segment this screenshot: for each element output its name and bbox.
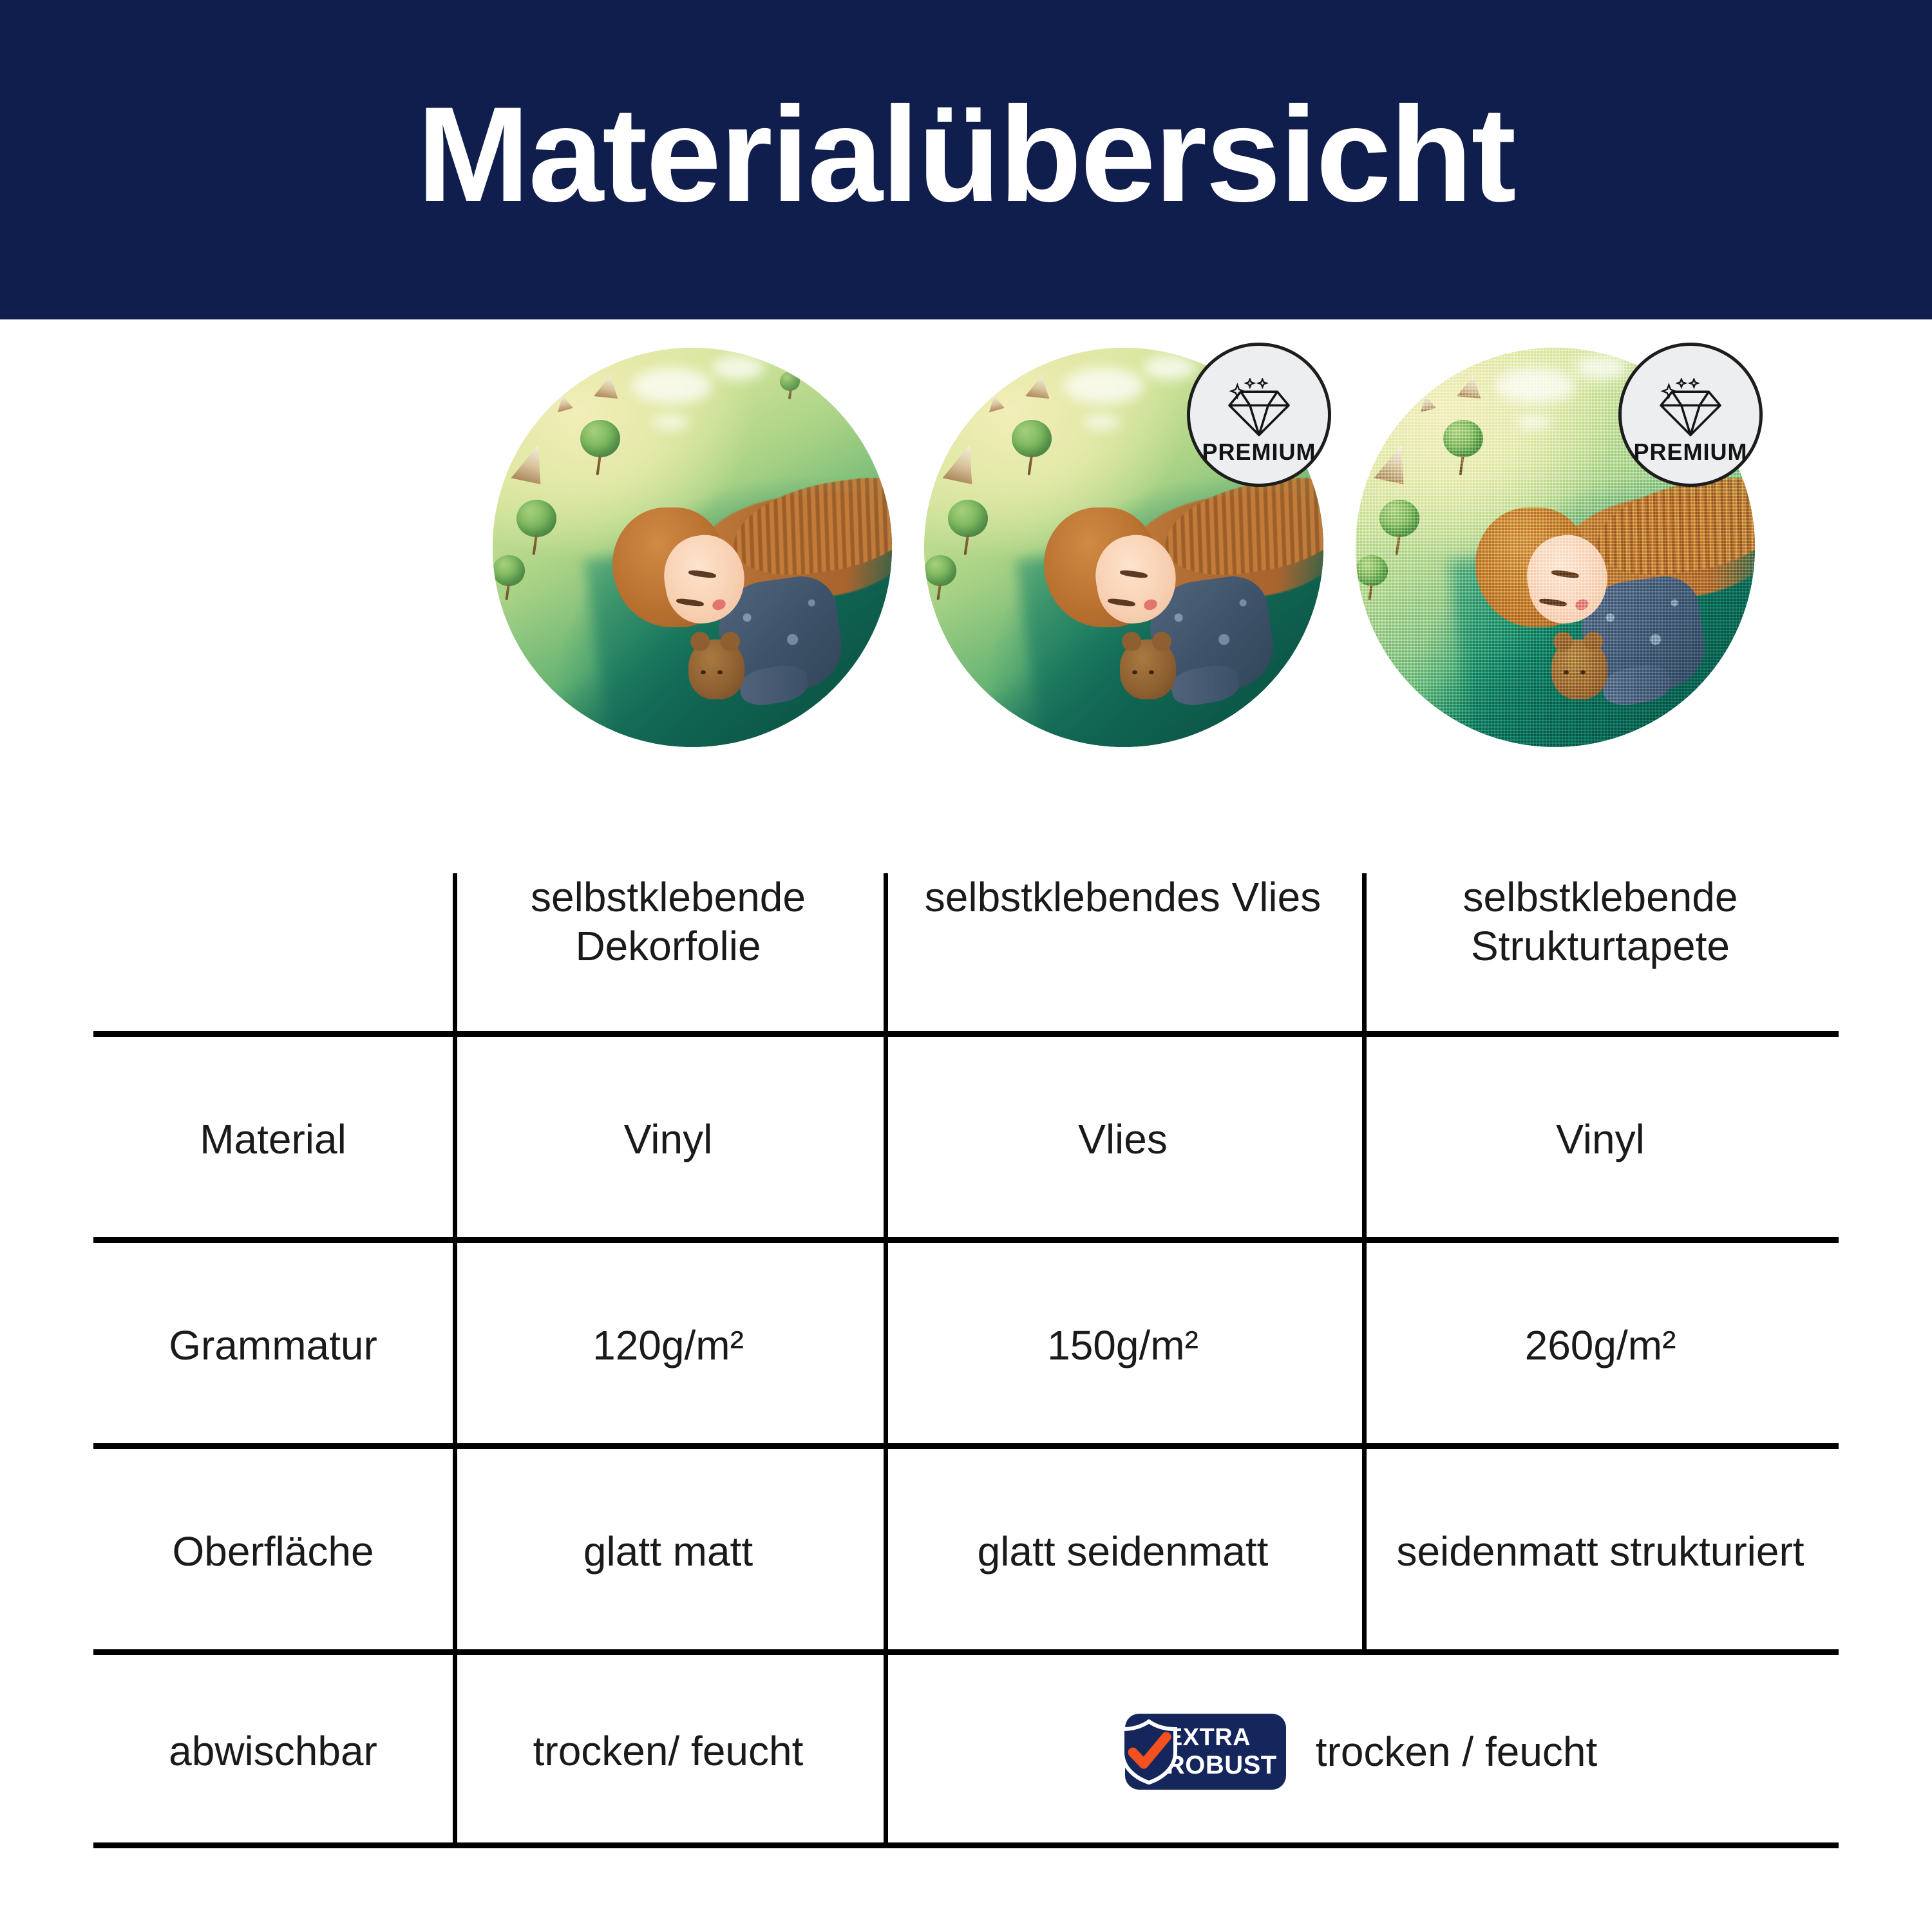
page-title: Materialübersicht xyxy=(417,87,1515,222)
extra-robust-label: EXTRA ROBUST xyxy=(1166,1725,1277,1778)
row-divider xyxy=(93,1842,1839,1848)
cell-oberflaeche-vlies: glatt seidenmatt xyxy=(884,1449,1362,1655)
cell-abwischbar-merged: EXTRA ROBUST trocken / feucht xyxy=(884,1655,1839,1848)
row-label-abwischbar: abwischbar xyxy=(93,1655,453,1848)
row-divider xyxy=(93,1443,1839,1449)
cell-abwischbar-value-merged: trocken / feucht xyxy=(1316,1728,1598,1776)
cell-oberflaeche-strukturtapete: seidenmatt strukturiert xyxy=(1362,1449,1839,1655)
premium-badge-label: PREMIUM xyxy=(1634,439,1748,466)
column-header-vlies: selbstklebendes Vlies xyxy=(884,857,1362,1037)
cell-material-dekorfolie: Vinyl xyxy=(453,1037,884,1243)
cell-grammatur-strukturtapete: 260g/m² xyxy=(1362,1243,1839,1449)
product-preview-dekorfolie[interactable] xyxy=(493,348,892,747)
column-header-strukturtapete: selbstklebende Strukturtapete xyxy=(1362,857,1839,1037)
cell-oberflaeche-dekorfolie: glatt matt xyxy=(453,1449,884,1655)
premium-badge-vlies: PREMIUM xyxy=(1187,343,1331,487)
product-preview-strukturtapete[interactable]: PREMIUM xyxy=(1356,348,1755,747)
column-divider xyxy=(1362,1243,1367,1449)
premium-badge-label: PREMIUM xyxy=(1202,439,1316,466)
column-divider xyxy=(1362,1449,1367,1655)
material-comparison-table: selbstklebende Dekorfolie selbstklebende… xyxy=(93,857,1839,1848)
row-divider xyxy=(93,1031,1839,1037)
column-divider xyxy=(884,873,888,1037)
diamond-icon xyxy=(1224,378,1294,437)
column-divider xyxy=(1362,873,1367,1037)
balloon-tree-icon xyxy=(1443,420,1483,458)
column-divider xyxy=(884,1449,888,1655)
balloon-tree-icon xyxy=(1012,420,1052,458)
balloon-tree-icon xyxy=(780,372,800,390)
cell-material-vlies: Vlies xyxy=(884,1037,1362,1243)
table-row: abwischbar trocken/ feucht EXTRA ROBUST … xyxy=(93,1655,1839,1848)
table-row: Material Vinyl Vlies Vinyl xyxy=(93,1037,1839,1243)
row-divider xyxy=(93,1237,1839,1243)
cell-abwischbar-dekorfolie: trocken/ feucht xyxy=(453,1655,884,1848)
column-divider xyxy=(453,1243,457,1449)
table-corner-cell xyxy=(93,857,453,1037)
row-label-grammatur: Grammatur xyxy=(93,1243,453,1449)
table-row: Oberfläche glatt matt glatt seidenmatt s… xyxy=(93,1449,1839,1655)
extra-robust-line2: ROBUST xyxy=(1166,1752,1277,1778)
cloud-icon xyxy=(632,368,712,404)
row-divider xyxy=(93,1649,1839,1655)
teddy-bear-icon xyxy=(1551,639,1607,699)
row-label-oberflaeche: Oberfläche xyxy=(93,1449,453,1655)
shield-check-icon xyxy=(1116,1719,1182,1785)
product-preview-row: PREMIUM xyxy=(0,348,1932,760)
page-header: Materialübersicht xyxy=(0,0,1932,319)
column-divider xyxy=(453,873,457,1037)
teddy-bear-icon xyxy=(688,639,744,699)
cloud-icon xyxy=(1495,368,1575,404)
column-divider xyxy=(884,1655,888,1848)
cell-material-strukturtapete: Vinyl xyxy=(1362,1037,1839,1243)
cloud-icon xyxy=(1144,355,1196,379)
balloon-tree-icon xyxy=(580,420,620,458)
product-image-dekorfolie xyxy=(493,348,892,747)
column-divider xyxy=(884,1243,888,1449)
material-overview-page: Materialübersicht xyxy=(0,0,1932,1932)
table-row: Grammatur 120g/m² 150g/m² 260g/m² xyxy=(93,1243,1839,1449)
row-label-material: Material xyxy=(93,1037,453,1243)
column-divider xyxy=(453,1037,457,1243)
column-divider xyxy=(453,1655,457,1848)
extra-robust-badge: EXTRA ROBUST xyxy=(1125,1714,1286,1790)
cell-grammatur-vlies: 150g/m² xyxy=(884,1243,1362,1449)
column-divider xyxy=(453,1449,457,1655)
cloud-icon xyxy=(1064,368,1144,404)
column-header-dekorfolie: selbstklebende Dekorfolie xyxy=(453,857,884,1037)
cloud-icon xyxy=(1575,355,1627,379)
column-divider xyxy=(884,1037,888,1243)
teddy-bear-icon xyxy=(1120,639,1176,699)
cloud-icon xyxy=(712,355,764,379)
diamond-icon xyxy=(1656,378,1725,437)
cell-grammatur-dekorfolie: 120g/m² xyxy=(453,1243,884,1449)
column-divider xyxy=(1362,1037,1367,1243)
premium-badge-strukturtapete: PREMIUM xyxy=(1618,343,1763,487)
product-preview-vlies[interactable]: PREMIUM xyxy=(924,348,1323,747)
table-header-row: selbstklebende Dekorfolie selbstklebende… xyxy=(93,857,1839,1037)
